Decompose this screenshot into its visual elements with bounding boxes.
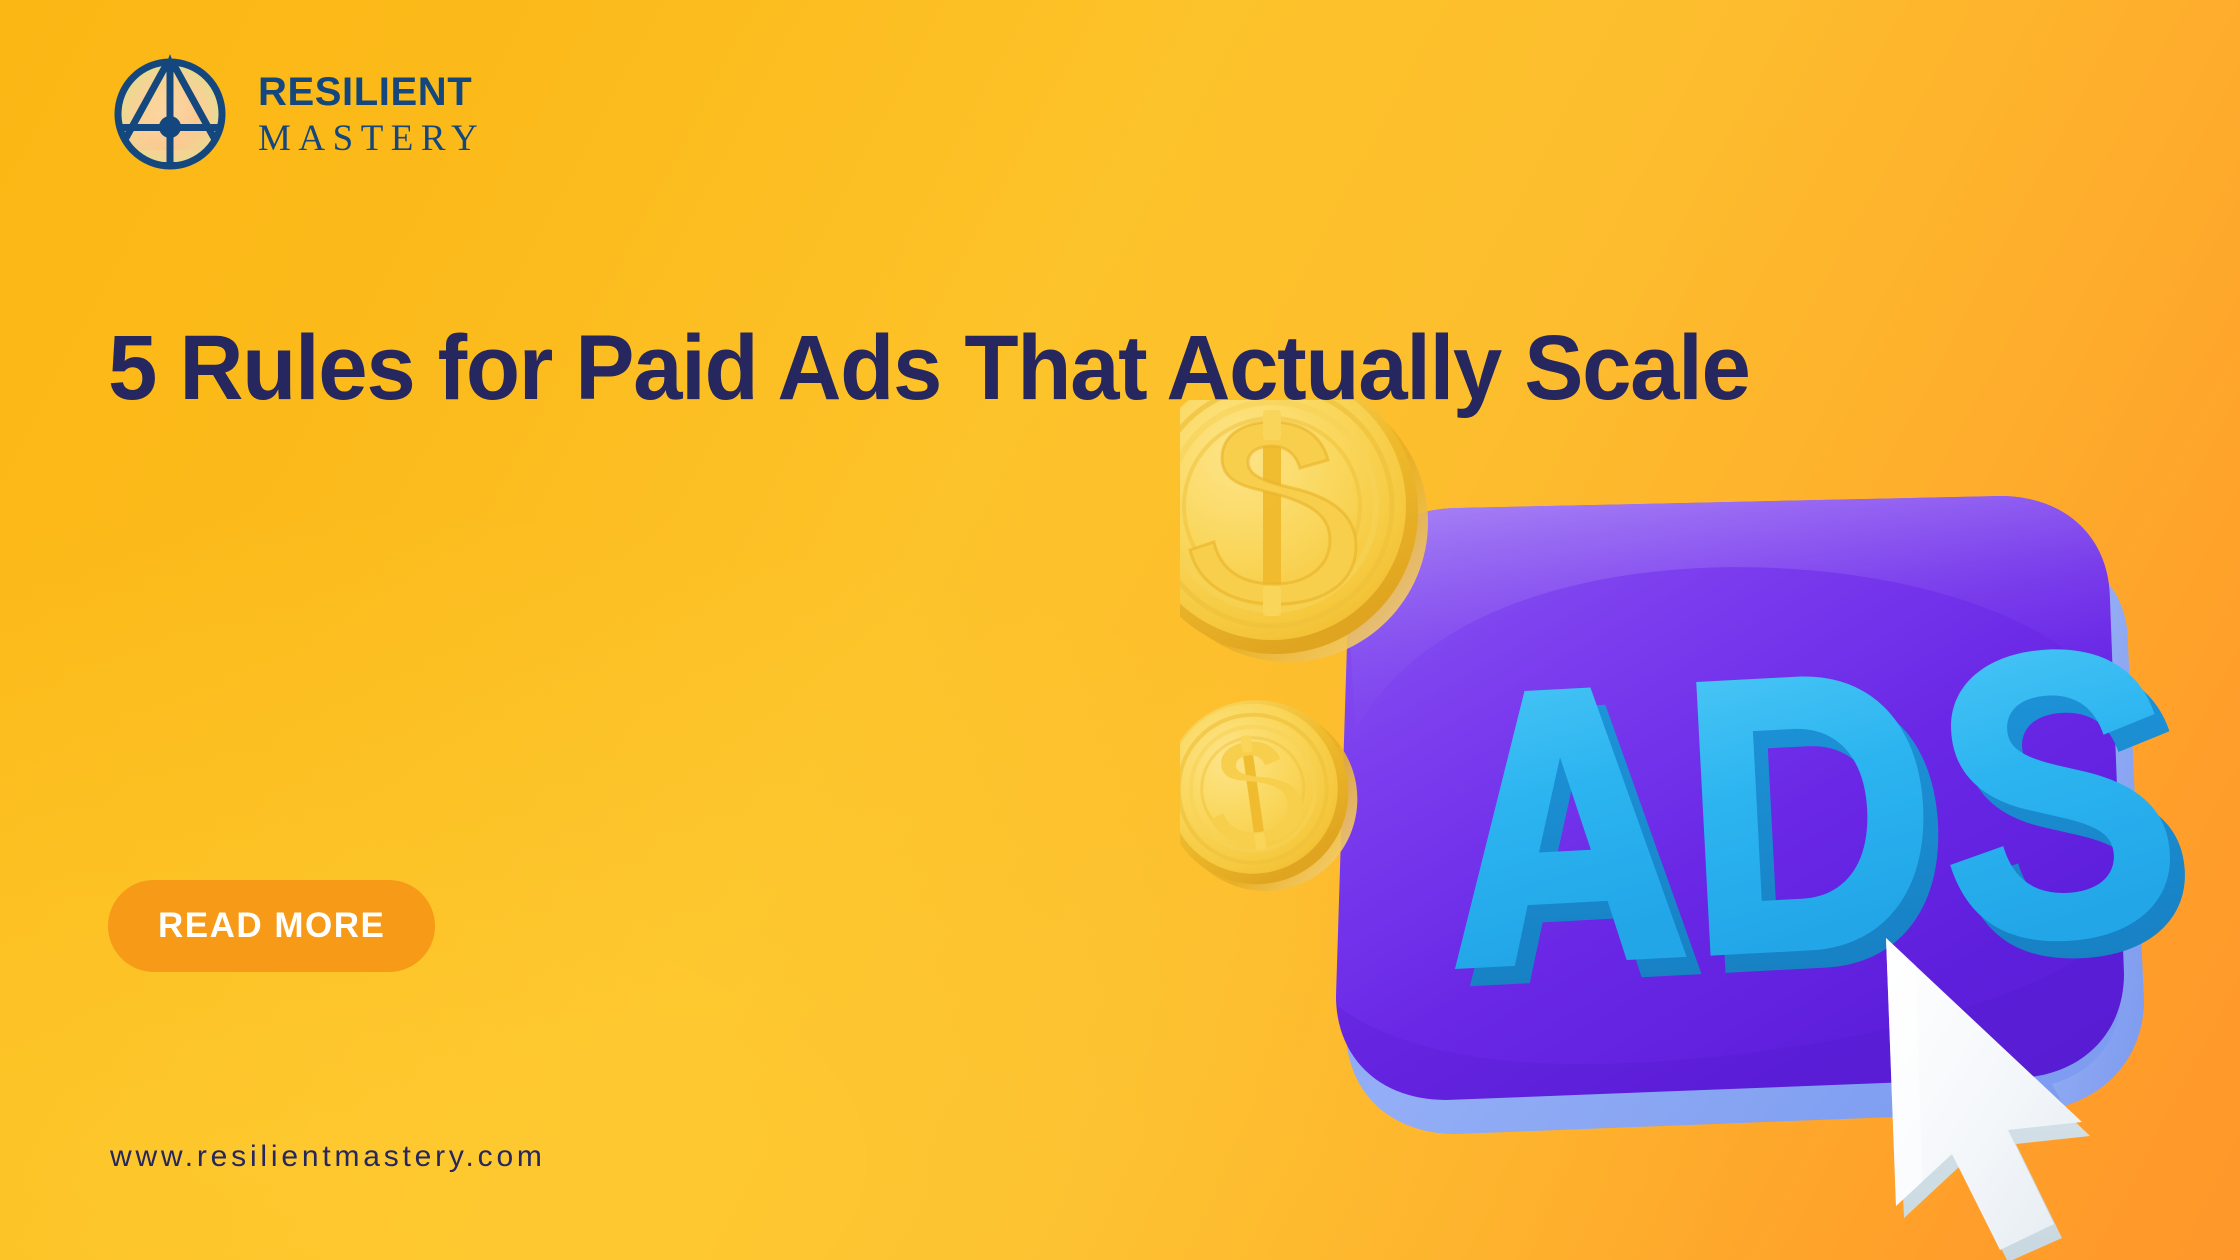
badge-right-edge [2052,560,2144,1106]
brand-logo[interactable]: RESILIENT MASTERY [108,52,485,176]
background-sheen [0,0,2240,1260]
cursor-highlight [1886,938,1922,1206]
3d-ads-illustration [1180,400,2240,1260]
globe-compass-icon [108,52,232,176]
ads-badge [1336,496,2124,1100]
read-more-button[interactable]: READ MORE [108,880,435,972]
coin-dollar-sign [1200,729,1308,856]
badge-bottom-edge [1346,534,2134,1134]
brand-name-primary: RESILIENT [258,72,485,112]
ads-badge-label [1440,643,2189,991]
coin-dollar-sign [1190,410,1356,616]
badge-highlight [1348,496,2114,730]
cursor-extrusion [1892,946,2090,1260]
page-title: 5 Rules for Paid Ads That Actually Scale [108,314,1893,423]
website-url: www.resilientmastery.com [110,1140,546,1174]
small-coin [1180,687,1369,904]
cursor-face [1886,938,2082,1250]
large-coin [1180,400,1428,662]
badge-inner-shadow [1336,920,2124,1100]
mouse-pointer-icon [1886,938,2090,1260]
brand-wordmark: RESILIENT MASTERY [258,72,485,157]
brand-name-secondary: MASTERY [258,120,485,157]
promo-banner: RESILIENT MASTERY 5 Rules for Paid Ads T… [0,0,2240,1260]
